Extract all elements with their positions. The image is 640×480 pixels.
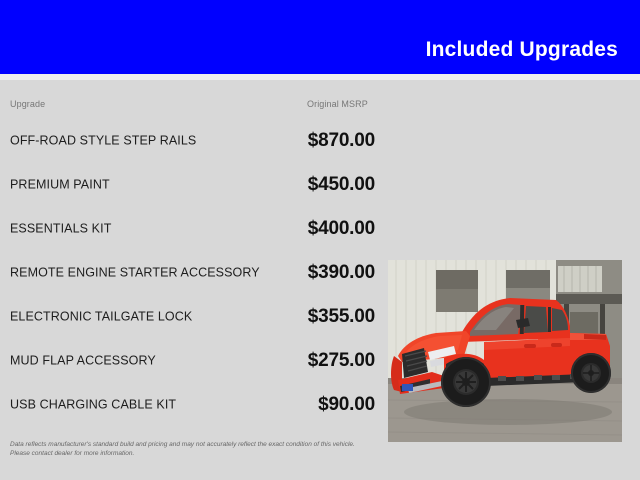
upgrade-price: $90.00 <box>318 394 375 416</box>
column-header-upgrade: Upgrade <box>10 99 45 109</box>
table-column-headers: Upgrade Original MSRP <box>0 99 640 115</box>
disclaimer-text: Data reflects manufacturer's standard bu… <box>10 440 380 458</box>
upgrade-price: $355.00 <box>308 306 375 328</box>
upgrade-price: $870.00 <box>308 130 375 152</box>
table-row: MUD FLAP ACCESSORY $275.00 <box>0 339 385 383</box>
header-banner: Included Upgrades <box>0 0 640 74</box>
upgrade-name: ESSENTIALS KIT <box>10 222 290 237</box>
upgrade-name: OFF-ROAD STYLE STEP RAILS <box>10 134 290 149</box>
upgrades-page: Included Upgrades Upgrade Original MSRP … <box>0 0 640 480</box>
disclaimer-line-1: Data reflects manufacturer's standard bu… <box>10 440 380 449</box>
table-row: PREMIUM PAINT $450.00 <box>0 163 385 207</box>
page-title: Included Upgrades <box>426 39 618 60</box>
upgrade-price: $275.00 <box>308 350 375 372</box>
table-row: REMOTE ENGINE STARTER ACCESSORY $390.00 <box>0 251 385 295</box>
column-header-msrp: Original MSRP <box>307 99 368 109</box>
upgrade-price: $400.00 <box>308 218 375 240</box>
upgrade-name: USB CHARGING CABLE KIT <box>10 398 290 413</box>
red-pickup-truck-photo <box>388 260 622 442</box>
content-panel: Upgrade Original MSRP OFF-ROAD STYLE STE… <box>0 80 640 480</box>
upgrade-name: PREMIUM PAINT <box>10 178 290 193</box>
upgrade-name: ELECTRONIC TAILGATE LOCK <box>10 310 290 325</box>
table-row: USB CHARGING CABLE KIT $90.00 <box>0 383 385 427</box>
upgrade-price: $390.00 <box>308 262 375 284</box>
table-row: ELECTRONIC TAILGATE LOCK $355.00 <box>0 295 385 339</box>
upgrade-name: MUD FLAP ACCESSORY <box>10 354 290 369</box>
disclaimer-line-2: Please contact dealer for more informati… <box>10 449 380 458</box>
upgrade-name: REMOTE ENGINE STARTER ACCESSORY <box>10 266 290 281</box>
table-row: ESSENTIALS KIT $400.00 <box>0 207 385 251</box>
upgrade-price: $450.00 <box>308 174 375 196</box>
table-row: OFF-ROAD STYLE STEP RAILS $870.00 <box>0 119 385 163</box>
